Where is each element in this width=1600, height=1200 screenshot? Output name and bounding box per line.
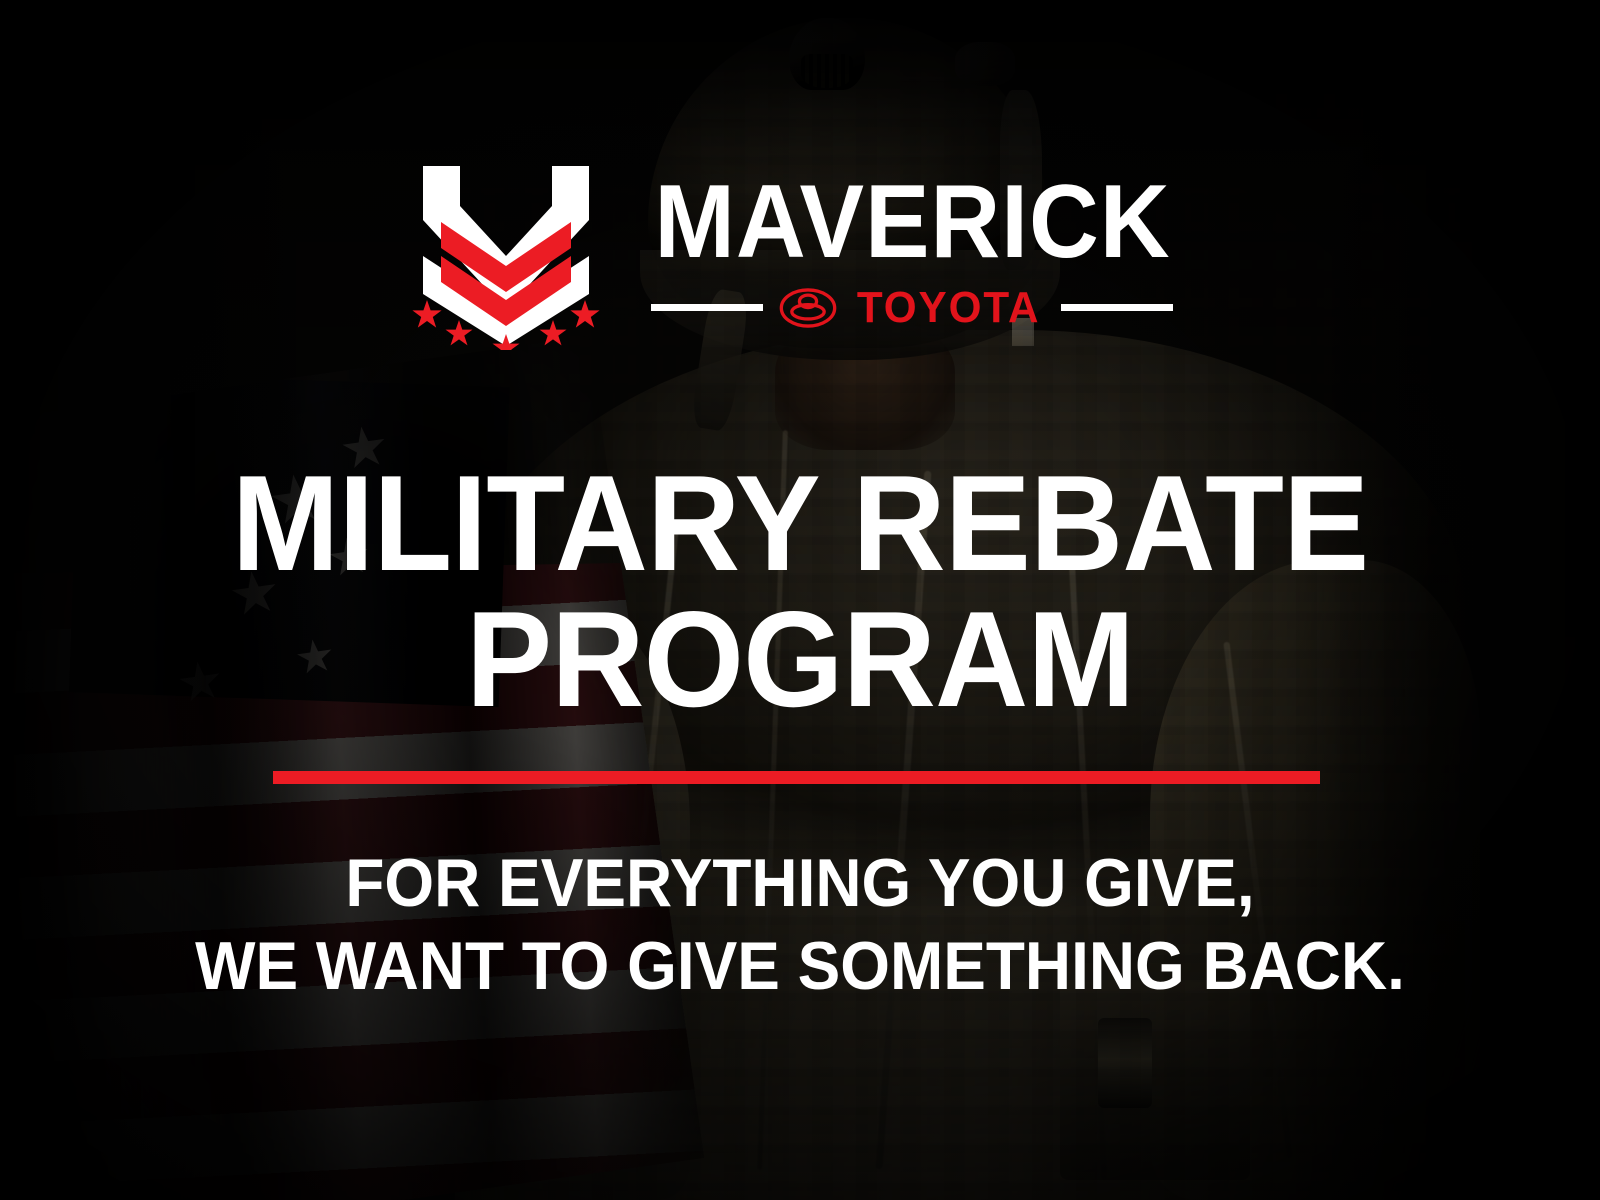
page-title: MILITARY REBATE PROGRAM [0,455,1600,727]
headline-line-1: MILITARY REBATE [40,455,1560,591]
tagline-line-2: WE WANT TO GIVE SOMETHING BACK. [48,925,1552,1008]
tagline: FOR EVERYTHING YOU GIVE, WE WANT TO GIVE… [0,842,1600,1008]
military-rebate-promo-banner: MAVERICK TOYOTA MILITARY REBATE PROGRAM [0,0,1600,1200]
headline-line-2: PROGRAM [40,591,1560,727]
tagline-line-1: FOR EVERYTHING YOU GIVE, [48,842,1552,925]
toyota-ellipse-icon [779,288,837,328]
toyota-rule-right [1061,304,1173,311]
toyota-rule-left [651,304,763,311]
brand-name: MAVERICK [654,177,1170,269]
red-divider-rule [273,771,1320,784]
toyota-wordmark: TOYOTA [857,283,1041,333]
banner-content: MAVERICK TOYOTA MILITARY REBATE PROGRAM [0,0,1600,1200]
brand-logo-lockup[interactable]: MAVERICK TOYOTA [0,160,1600,350]
brand-wordmark: MAVERICK TOYOTA [635,177,1190,333]
chevron-rank-shield-icon [411,160,601,350]
toyota-lockup: TOYOTA [651,283,1172,333]
